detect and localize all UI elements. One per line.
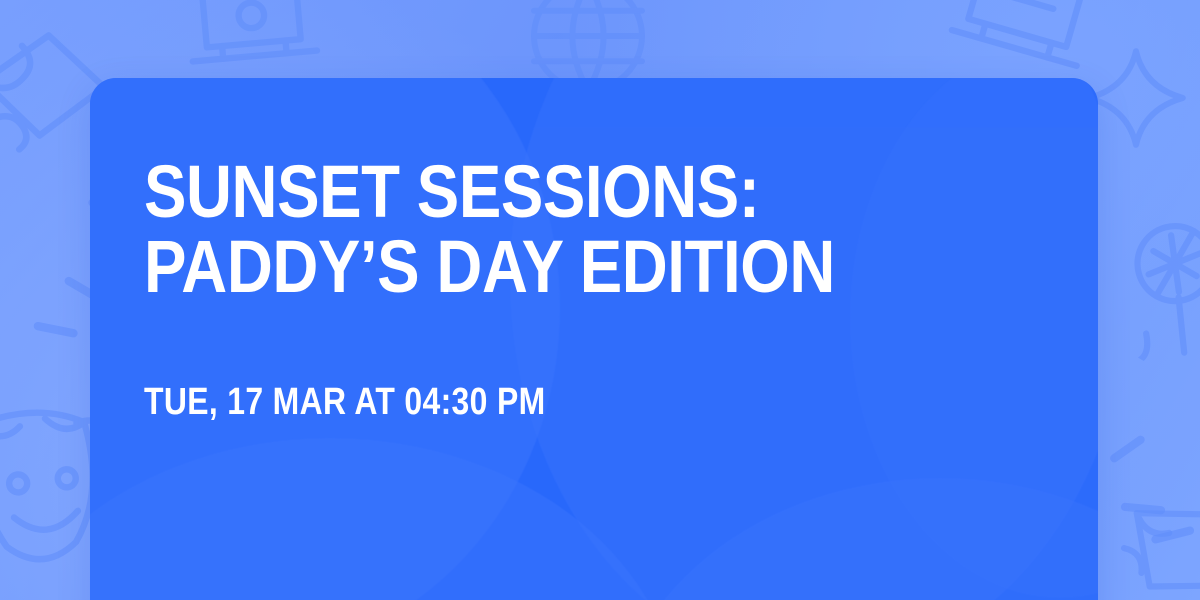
card-blob: [610, 478, 1098, 600]
event-datetime: Tue, 17 Mar at 04:30 PM: [144, 383, 895, 421]
event-title: Sunset Sessions: Paddy’s Day Edition: [144, 154, 913, 305]
event-banner: Sunset Sessions: Paddy’s Day Edition Tue…: [0, 0, 1200, 600]
card-blob: [90, 438, 680, 600]
event-card-content: Sunset Sessions: Paddy’s Day Edition Tue…: [90, 78, 1098, 421]
event-card[interactable]: Sunset Sessions: Paddy’s Day Edition Tue…: [90, 78, 1098, 600]
